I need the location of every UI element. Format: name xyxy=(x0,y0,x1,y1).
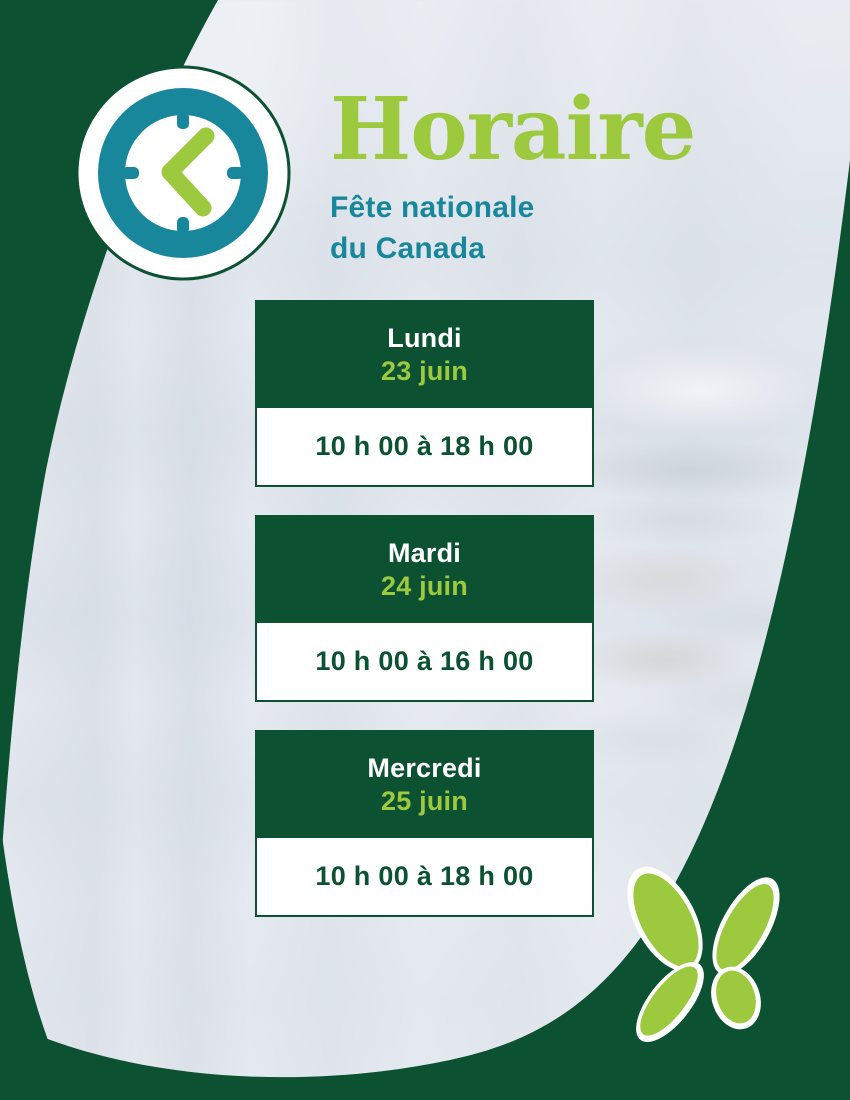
page-title: Horaire xyxy=(330,88,790,172)
schedule-card: Mardi 24 juin 10 h 00 à 16 h 00 xyxy=(255,515,594,702)
schedule-card-body: 10 h 00 à 18 h 00 xyxy=(255,838,594,917)
schedule-card-header: Mardi 24 juin xyxy=(255,515,594,623)
schedule-card-body: 10 h 00 à 16 h 00 xyxy=(255,623,594,702)
butterfly-wing-upper-left xyxy=(612,858,718,983)
schedule-card-hours: 10 h 00 à 18 h 00 xyxy=(315,861,533,892)
butterfly-wing-lower-right xyxy=(703,960,768,1036)
schedule-card-header: Lundi 23 juin xyxy=(255,300,594,408)
page-subtitle: Fête nationale du Canada xyxy=(330,188,790,269)
butterfly-wing-upper-right xyxy=(699,867,793,985)
schedule-card-day: Mardi xyxy=(267,537,582,570)
schedule-card: Mercredi 25 juin 10 h 00 à 18 h 00 xyxy=(255,730,594,917)
schedule-card-day: Lundi xyxy=(267,322,582,355)
schedule-card-date: 24 juin xyxy=(267,570,582,603)
schedule-card-date: 25 juin xyxy=(267,785,582,818)
schedule-card-header: Mercredi 25 juin xyxy=(255,730,594,838)
butterfly-logo-icon xyxy=(612,858,802,1053)
schedule-card-day: Mercredi xyxy=(267,752,582,785)
schedule-card-hours: 10 h 00 à 18 h 00 xyxy=(315,431,533,462)
clock-icon xyxy=(74,64,292,282)
left-green-strip xyxy=(0,820,48,1040)
schedule-card-date: 23 juin xyxy=(267,355,582,388)
schedule-poster: Horaire Fête nationale du Canada Lundi 2… xyxy=(0,0,850,1100)
schedule-card: Lundi 23 juin 10 h 00 à 18 h 00 xyxy=(255,300,594,487)
schedule-list: Lundi 23 juin 10 h 00 à 18 h 00 Mardi 24… xyxy=(255,300,594,917)
schedule-card-body: 10 h 00 à 18 h 00 xyxy=(255,408,594,487)
schedule-card-hours: 10 h 00 à 16 h 00 xyxy=(315,646,533,677)
heading-block: Horaire Fête nationale du Canada xyxy=(330,88,790,269)
